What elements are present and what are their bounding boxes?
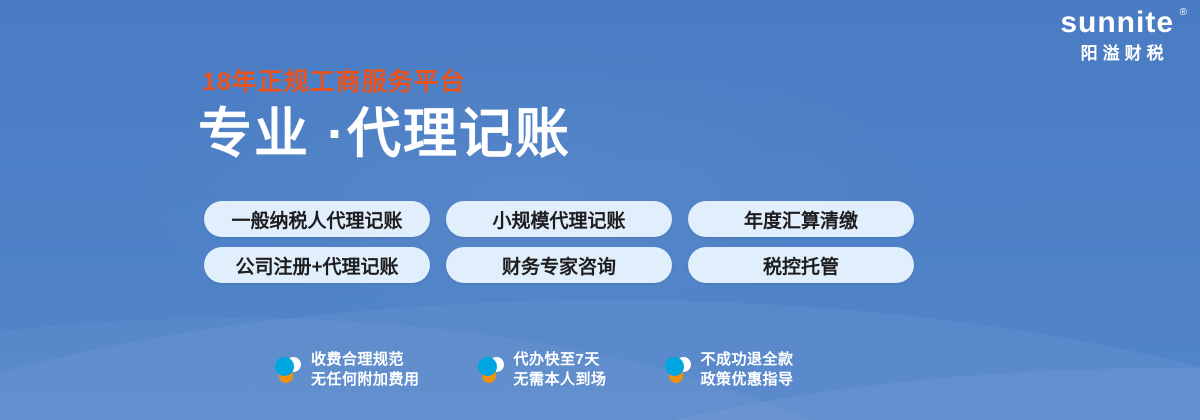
logo-wordmark-text: sunnite [1060,6,1174,39]
service-pill-small-scale[interactable]: 小规模代理记账 [446,201,672,237]
feature-line-2: 无需本人到场 [514,370,607,390]
logo-wordmark: sunnite ® [1060,8,1184,38]
hero-eyebrow: 18年正规工商服务平台 [202,70,571,95]
feature-line-1: 代办快至7天 [514,350,607,370]
feature-text-speed: 代办快至7天 无需本人到场 [514,350,607,390]
feature-text-guarantee: 不成功退全款 政策优惠指导 [701,350,794,390]
service-pill-general-taxpayer[interactable]: 一般纳税人代理记账 [204,201,430,237]
feature-item-guarantee: 不成功退全款 政策优惠指导 [665,350,794,390]
feature-line-2: 政策优惠指导 [701,370,794,390]
feature-line-1: 不成功退全款 [701,350,794,370]
service-pill-company-registration[interactable]: 公司注册+代理记账 [204,247,430,283]
service-pill-annual-settlement[interactable]: 年度汇算清缴 [688,201,914,237]
feature-item-speed: 代办快至7天 无需本人到场 [478,350,607,390]
feature-line-2: 无任何附加费用 [311,370,420,390]
service-pill-finance-consulting[interactable]: 财务专家咨询 [446,247,672,283]
brand-logo[interactable]: sunnite ® 阳溢财税 [1060,8,1184,62]
service-pill-tax-control-hosting[interactable]: 税控托管 [688,247,914,283]
hero-text-block: 18年正规工商服务平台 专业 ·代理记账 [198,70,571,161]
service-pill-row-1: 一般纳税人代理记账 小规模代理记账 年度汇算清缴 [204,201,914,237]
circle-crescent-icon [478,355,504,385]
feature-strip: 收费合理规范 无任何附加费用 代办快至7天 无需本人到场 不成功退全款 [275,350,794,390]
service-pill-row-2: 公司注册+代理记账 财务专家咨询 税控托管 [204,247,914,283]
logo-subtitle: 阳溢财税 [1060,45,1184,62]
feature-line-1: 收费合理规范 [311,350,420,370]
page-title: 专业 ·代理记账 [198,107,571,161]
feature-item-pricing: 收费合理规范 无任何附加费用 [275,350,420,390]
circle-crescent-icon [275,355,301,385]
promo-banner: sunnite ® 阳溢财税 18年正规工商服务平台 专业 ·代理记账 一般纳税… [0,0,1200,420]
registered-trademark-icon: ® [1180,8,1188,18]
circle-crescent-icon [665,355,691,385]
service-pill-group: 一般纳税人代理记账 小规模代理记账 年度汇算清缴 公司注册+代理记账 财务专家咨… [204,201,914,293]
feature-text-pricing: 收费合理规范 无任何附加费用 [311,350,420,390]
